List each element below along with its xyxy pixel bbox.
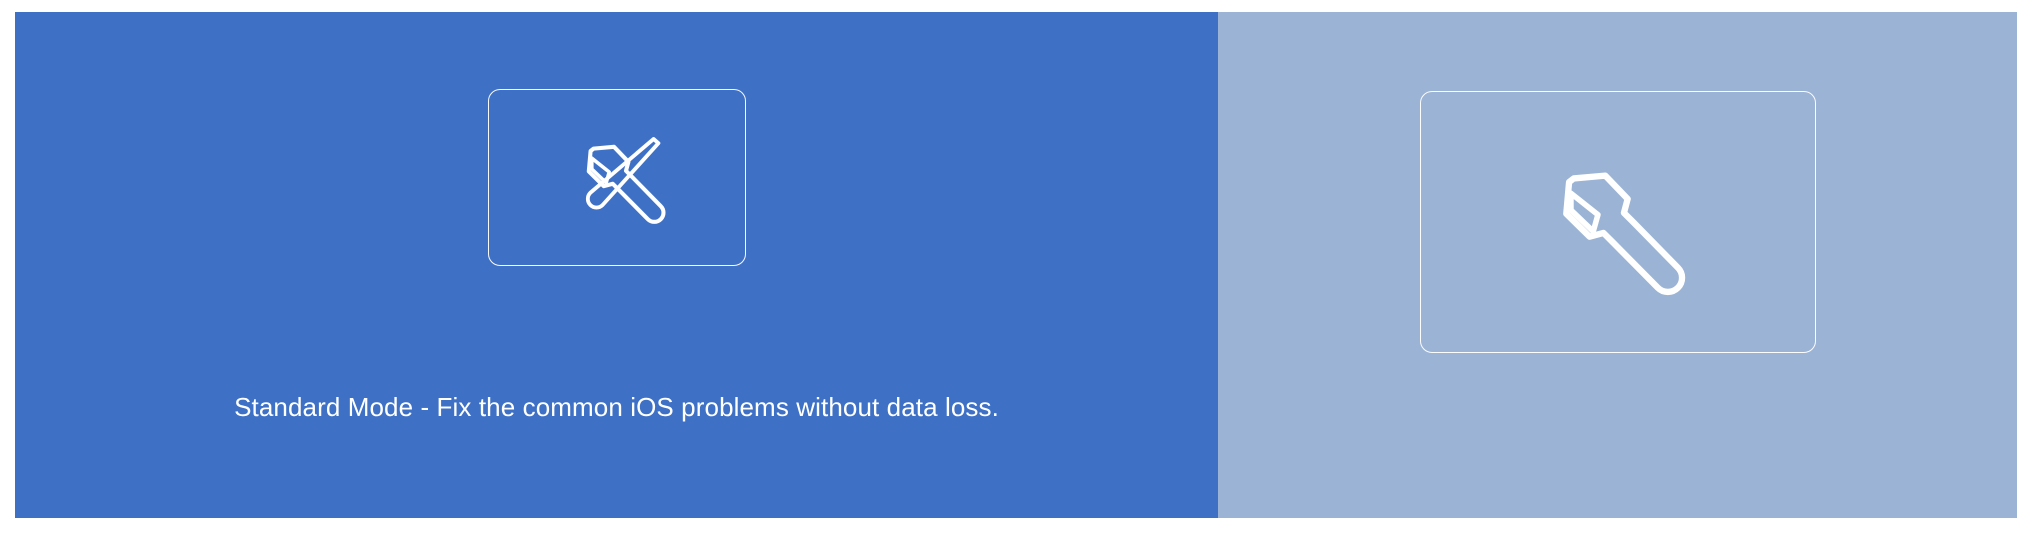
wrench-icon (1517, 131, 1703, 317)
advanced-mode-icon-card[interactable] (1420, 91, 1816, 353)
wrench-and-screwdriver-icon (557, 118, 677, 238)
mode-panel-group: Standard Mode - Fix the common iOS probl… (15, 12, 2017, 518)
standard-mode-caption: Standard Mode - Fix the common iOS probl… (15, 390, 1218, 424)
screenshot-stage: Standard Mode - Fix the common iOS probl… (0, 0, 2038, 534)
standard-mode-icon-card[interactable] (488, 89, 746, 266)
advanced-mode-panel[interactable] (1218, 12, 2017, 518)
standard-mode-panel[interactable]: Standard Mode - Fix the common iOS probl… (15, 12, 1218, 518)
